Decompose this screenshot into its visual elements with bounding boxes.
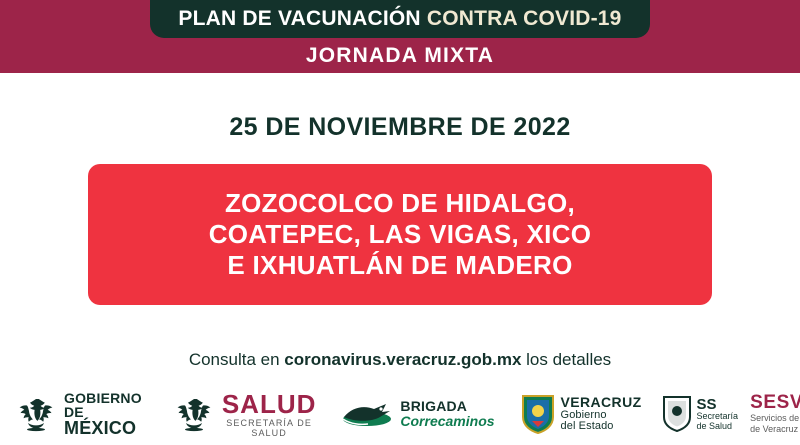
logo-sesver: SESVER Servicios de Salud de Veracruz — [750, 389, 800, 439]
locations-line-2: COATEPEC, LAS VIGAS, XICO — [209, 219, 592, 250]
salud-line2: SECRETARÍA DE SALUD — [222, 418, 317, 438]
veracruz-text: VERACRUZ Gobierno del Estado — [561, 395, 642, 433]
header-subtitle: JORNADA MIXTA — [306, 44, 494, 68]
ss-shield-icon — [662, 395, 692, 433]
logo-gobierno-de-mexico: GOBIERNO DE MÉXICO — [14, 389, 142, 439]
brigada-line2: Correcaminos — [400, 414, 494, 429]
header-title-part1: PLAN DE VACUNACIÓN — [178, 7, 426, 30]
consulta-suffix: los detalles — [521, 350, 611, 369]
header-title-part2: CONTRA COVID-19 — [427, 7, 622, 30]
header-band: PLAN DE VACUNACIÓN CONTRA COVID-19 JORNA… — [0, 0, 800, 73]
veracruz-line3: del Estado — [561, 421, 642, 433]
ss-text: SS Secretaría de Salud — [697, 397, 739, 432]
veracruz-line1: VERACRUZ — [561, 395, 642, 410]
locations-line-1: ZOZOCOLCO DE HIDALGO, — [225, 188, 575, 219]
consulta-line: Consulta en coronavirus.veracruz.gob.mx … — [0, 350, 800, 370]
logo-secretaria-de-salud-veracruz: SS Secretaría de Salud — [662, 389, 739, 439]
poster-root: PLAN DE VACUNACIÓN CONTRA COVID-19 JORNA… — [0, 0, 800, 445]
date-text: 25 DE NOVIEMBRE DE 2022 — [0, 113, 800, 142]
gobierno-line1: GOBIERNO DE — [64, 391, 142, 420]
header-subtitle-wrap: JORNADA MIXTA — [0, 38, 800, 73]
brigada-line1: BRIGADA — [400, 399, 494, 414]
eagle-icon-salud — [172, 393, 216, 435]
salud-line1: SALUD — [222, 391, 317, 417]
header-title: PLAN DE VACUNACIÓN CONTRA COVID-19 — [178, 7, 621, 31]
veracruz-shield-icon — [521, 393, 555, 435]
sesver-line2: Servicios de Salud — [750, 413, 800, 424]
locations-box: ZOZOCOLCO DE HIDALGO, COATEPEC, LAS VIGA… — [88, 164, 712, 305]
roadrunner-icon — [340, 397, 394, 431]
eagle-icon — [14, 393, 58, 435]
gobierno-text: GOBIERNO DE MÉXICO — [64, 391, 142, 438]
consulta-prefix: Consulta en — [189, 350, 284, 369]
ss-line1: SS — [697, 397, 739, 413]
locations-line-3: E IXHUATLÁN DE MADERO — [227, 250, 572, 281]
ss-line3: de Salud — [697, 422, 739, 431]
salud-text: SALUD SECRETARÍA DE SALUD — [222, 391, 317, 438]
consulta-url[interactable]: coronavirus.veracruz.gob.mx — [284, 350, 521, 369]
footer-logos: GOBIERNO DE MÉXICO SALUD SECRETARÍA DE S… — [0, 383, 800, 445]
sesver-line3: de Veracruz — [750, 424, 798, 435]
logo-brigada-correcaminos: BRIGADA Correcaminos — [340, 389, 494, 439]
logo-veracruz: VERACRUZ Gobierno del Estado — [521, 389, 642, 439]
sesver-line1: SESVER — [750, 393, 800, 413]
brigada-text: BRIGADA Correcaminos — [400, 399, 494, 429]
logo-salud: SALUD SECRETARÍA DE SALUD — [172, 389, 317, 439]
header-green-tab: PLAN DE VACUNACIÓN CONTRA COVID-19 — [150, 0, 650, 38]
gobierno-line2: MÉXICO — [64, 419, 142, 437]
